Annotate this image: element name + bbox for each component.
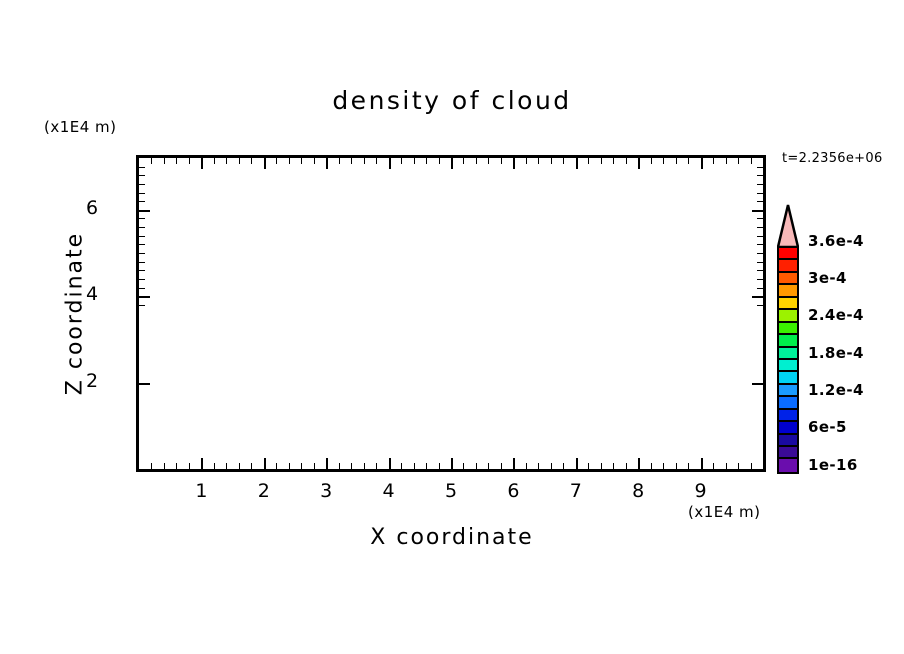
x-tick-minor-top xyxy=(339,158,340,164)
x-tick-major-top xyxy=(451,158,453,169)
y-tick-minor xyxy=(139,193,145,194)
x-tick-minor-top xyxy=(439,158,440,164)
x-tick-label: 4 xyxy=(359,480,419,502)
x-tick-major xyxy=(638,458,640,469)
x-tick-minor-top xyxy=(164,158,165,164)
y-tick-label: 4 xyxy=(62,283,122,305)
x-tick-minor xyxy=(551,463,552,469)
y-tick-minor-right xyxy=(757,253,763,254)
x-tick-minor-top xyxy=(501,158,502,164)
x-tick-minor xyxy=(314,463,315,469)
y-tick-minor xyxy=(139,279,145,280)
colorbar-band xyxy=(779,447,797,459)
x-tick-minor-top xyxy=(314,158,315,164)
y-tick-label: 6 xyxy=(62,197,122,219)
x-tick-major-top xyxy=(701,158,703,169)
x-tick-major xyxy=(451,458,453,469)
y-tick-minor xyxy=(139,305,145,306)
y-tick-minor xyxy=(139,175,145,176)
x-tick-minor xyxy=(289,463,290,469)
x-tick-minor xyxy=(176,463,177,469)
x-tick-minor-top xyxy=(601,158,602,164)
x-tick-minor xyxy=(364,463,365,469)
x-tick-major xyxy=(513,458,515,469)
y-tick-minor xyxy=(139,218,145,219)
x-tick-minor-top xyxy=(189,158,190,164)
y-tick-minor-right xyxy=(757,270,763,271)
x-tick-minor-top xyxy=(738,158,739,164)
colorbar-band xyxy=(779,360,797,372)
x-tick-major-top xyxy=(638,158,640,169)
y-tick-minor-right xyxy=(757,262,763,263)
x-tick-label: 7 xyxy=(546,480,606,502)
x-tick-minor xyxy=(651,463,652,469)
x-tick-major-top xyxy=(513,158,515,169)
x-tick-minor xyxy=(688,463,689,469)
colorbar-band xyxy=(779,385,797,397)
x-tick-minor xyxy=(676,463,677,469)
x-tick-minor-top xyxy=(563,158,564,164)
x-tick-minor-top xyxy=(414,158,415,164)
x-tick-minor-top xyxy=(713,158,714,164)
x-tick-minor-top xyxy=(626,158,627,164)
x-tick-minor xyxy=(339,463,340,469)
x-tick-label: 3 xyxy=(296,480,356,502)
x-tick-minor xyxy=(376,463,377,469)
x-tick-minor xyxy=(239,463,240,469)
x-tick-label: 2 xyxy=(234,480,294,502)
x-tick-minor-top xyxy=(751,158,752,164)
x-tick-minor xyxy=(526,463,527,469)
y-tick-minor-right xyxy=(757,201,763,202)
x-tick-major xyxy=(201,458,203,469)
x-axis-unit-label: (x1E4 m) xyxy=(688,503,761,521)
x-tick-label: 8 xyxy=(608,480,668,502)
x-tick-minor-top xyxy=(214,158,215,164)
y-tick-major-right xyxy=(752,296,763,298)
colorbar-band xyxy=(779,298,797,310)
colorbar-band xyxy=(779,310,797,322)
x-tick-minor xyxy=(414,463,415,469)
x-tick-major-top xyxy=(264,158,266,169)
y-tick-minor xyxy=(139,253,145,254)
colorbar-tick-label: 3.6e-4 xyxy=(808,232,864,250)
x-tick-major xyxy=(701,458,703,469)
x-tick-minor-top xyxy=(251,158,252,164)
x-tick-minor-top xyxy=(726,158,727,164)
y-tick-minor xyxy=(139,227,145,228)
x-tick-major-top xyxy=(326,158,328,169)
x-tick-minor xyxy=(601,463,602,469)
x-tick-minor xyxy=(738,463,739,469)
x-tick-minor xyxy=(189,463,190,469)
y-tick-minor-right xyxy=(757,236,763,237)
y-tick-minor-right xyxy=(757,175,763,176)
x-tick-minor-top xyxy=(364,158,365,164)
y-tick-major xyxy=(139,383,150,385)
colorbar-band xyxy=(779,422,797,434)
y-tick-minor-right xyxy=(757,305,763,306)
y-tick-minor xyxy=(139,201,145,202)
x-tick-minor xyxy=(214,463,215,469)
x-tick-minor-top xyxy=(688,158,689,164)
x-tick-minor xyxy=(751,463,752,469)
figure-canvas: density of cloud (x1E4 m) (x1E4 m) t=2.2… xyxy=(0,0,904,654)
x-tick-major-top xyxy=(201,158,203,169)
y-tick-minor-right xyxy=(757,167,763,168)
y-tick-minor xyxy=(139,167,145,168)
y-tick-minor xyxy=(139,288,145,289)
colorbar-tick-label: 1e-16 xyxy=(808,456,858,474)
y-tick-minor-right xyxy=(757,218,763,219)
x-tick-minor-top xyxy=(663,158,664,164)
colorbar-band xyxy=(779,285,797,297)
y-axis-unit-label: (x1E4 m) xyxy=(44,118,117,136)
y-tick-minor xyxy=(139,236,145,237)
x-tick-minor-top xyxy=(239,158,240,164)
x-tick-minor xyxy=(251,463,252,469)
time-annotation: t=2.2356e+06 xyxy=(782,151,883,166)
x-tick-major xyxy=(264,458,266,469)
y-tick-minor xyxy=(139,184,145,185)
x-tick-minor-top xyxy=(476,158,477,164)
x-tick-label: 6 xyxy=(483,480,543,502)
x-tick-label: 1 xyxy=(171,480,231,502)
y-tick-minor-right xyxy=(757,193,763,194)
x-tick-minor xyxy=(439,463,440,469)
x-tick-minor xyxy=(563,463,564,469)
x-tick-minor-top xyxy=(301,158,302,164)
x-tick-minor-top xyxy=(401,158,402,164)
x-tick-major-top xyxy=(576,158,578,169)
x-tick-minor xyxy=(226,463,227,469)
x-tick-minor xyxy=(488,463,489,469)
y-tick-minor xyxy=(139,270,145,271)
x-tick-major xyxy=(576,458,578,469)
x-axis-title: X coordinate xyxy=(0,525,904,550)
x-tick-major xyxy=(389,458,391,469)
colorbar xyxy=(777,246,799,474)
x-tick-minor-top xyxy=(551,158,552,164)
x-tick-minor xyxy=(351,463,352,469)
y-tick-minor xyxy=(139,244,145,245)
x-tick-minor-top xyxy=(488,158,489,164)
x-tick-minor-top xyxy=(588,158,589,164)
x-tick-minor xyxy=(463,463,464,469)
page-title: density of cloud xyxy=(0,86,904,115)
x-tick-minor xyxy=(426,463,427,469)
x-tick-minor-top xyxy=(226,158,227,164)
x-tick-minor xyxy=(164,463,165,469)
y-tick-minor-right xyxy=(757,227,763,228)
x-tick-minor xyxy=(626,463,627,469)
x-tick-minor xyxy=(663,463,664,469)
x-tick-minor xyxy=(401,463,402,469)
x-tick-minor xyxy=(301,463,302,469)
x-tick-label: 9 xyxy=(671,480,731,502)
x-tick-label: 5 xyxy=(421,480,481,502)
y-tick-minor-right xyxy=(757,244,763,245)
colorbar-tick-label: 1.8e-4 xyxy=(808,344,864,362)
x-tick-minor xyxy=(726,463,727,469)
x-tick-minor-top xyxy=(276,158,277,164)
colorbar-band xyxy=(779,435,797,447)
x-tick-minor xyxy=(538,463,539,469)
y-tick-major xyxy=(139,210,150,212)
x-tick-minor-top xyxy=(376,158,377,164)
colorbar-band xyxy=(779,459,797,471)
x-tick-minor-top xyxy=(151,158,152,164)
colorbar-band xyxy=(779,273,797,285)
x-tick-major xyxy=(326,458,328,469)
x-tick-minor-top xyxy=(613,158,614,164)
colorbar-tick-label: 3e-4 xyxy=(808,269,847,287)
x-tick-minor-top xyxy=(351,158,352,164)
x-tick-minor xyxy=(501,463,502,469)
x-tick-minor xyxy=(588,463,589,469)
y-tick-minor-right xyxy=(757,184,763,185)
x-tick-minor-top xyxy=(463,158,464,164)
x-tick-minor-top xyxy=(289,158,290,164)
colorbar-tick-label: 2.4e-4 xyxy=(808,306,864,324)
colorbar-tick-label: 6e-5 xyxy=(808,418,847,436)
x-tick-minor-top xyxy=(426,158,427,164)
colorbar-band xyxy=(779,372,797,384)
y-tick-major xyxy=(139,296,150,298)
x-tick-minor xyxy=(151,463,152,469)
x-tick-minor-top xyxy=(526,158,527,164)
y-tick-major-right xyxy=(752,383,763,385)
contour-field xyxy=(139,158,763,469)
colorbar-band xyxy=(779,323,797,335)
x-tick-minor xyxy=(276,463,277,469)
y-tick-label: 2 xyxy=(62,370,122,392)
x-tick-minor xyxy=(713,463,714,469)
x-tick-major-top xyxy=(389,158,391,169)
x-tick-minor xyxy=(613,463,614,469)
x-tick-minor-top xyxy=(176,158,177,164)
y-tick-minor xyxy=(139,262,145,263)
colorbar-band xyxy=(779,348,797,360)
colorbar-band xyxy=(779,397,797,409)
x-tick-minor-top xyxy=(538,158,539,164)
y-tick-minor-right xyxy=(757,288,763,289)
colorbar-band xyxy=(779,410,797,422)
x-tick-minor-top xyxy=(676,158,677,164)
triangle-icon xyxy=(777,204,799,248)
y-tick-major-right xyxy=(752,210,763,212)
colorbar-band xyxy=(779,260,797,272)
x-tick-minor xyxy=(476,463,477,469)
colorbar-tick-label: 1.2e-4 xyxy=(808,381,864,399)
plot-area xyxy=(136,155,766,472)
colorbar-band xyxy=(779,335,797,347)
y-tick-minor-right xyxy=(757,279,763,280)
colorbar-band xyxy=(779,248,797,260)
colorbar-overflow-arrow xyxy=(777,204,799,248)
x-tick-minor-top xyxy=(651,158,652,164)
